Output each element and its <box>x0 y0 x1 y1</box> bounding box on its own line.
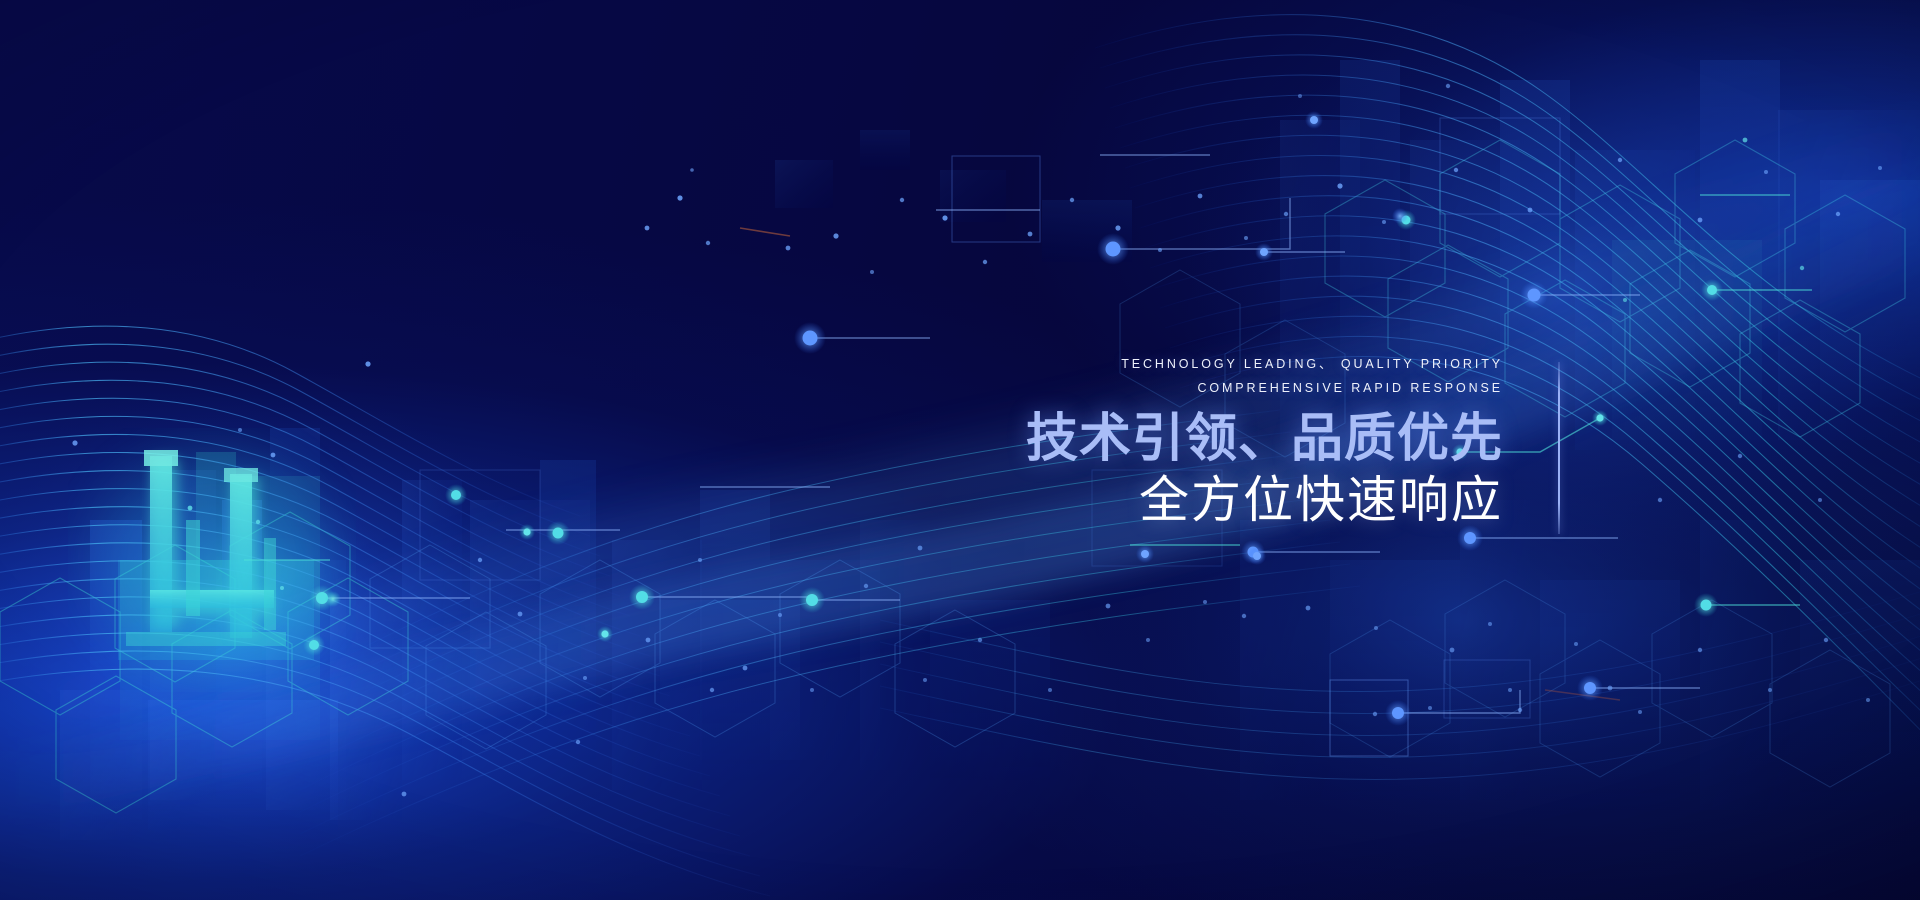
vertical-divider <box>1558 362 1560 534</box>
vignette-overlay <box>0 0 1920 900</box>
hero-banner: TECHNOLOGY LEADING、 QUALITY PRIORITY COM… <box>0 0 1920 900</box>
headline-line-1: 技术引领、品质优先 <box>0 408 1503 470</box>
glowing-node-dots <box>0 0 1920 900</box>
translucent-rectangles <box>0 0 1920 900</box>
subtitle-line-2: COMPREHENSIVE RAPID RESPONSE <box>0 376 1503 400</box>
tech-circuit-glow <box>0 0 1920 900</box>
background-gradient <box>0 0 1920 900</box>
headline-line-2: 全方位快速响应 <box>0 470 1503 530</box>
subtitle-line-1: TECHNOLOGY LEADING、 QUALITY PRIORITY <box>0 352 1503 376</box>
flowing-wave-lines <box>0 0 1920 900</box>
hero-copy: TECHNOLOGY LEADING、 QUALITY PRIORITY COM… <box>0 352 1503 530</box>
hexagon-network <box>0 0 1920 900</box>
